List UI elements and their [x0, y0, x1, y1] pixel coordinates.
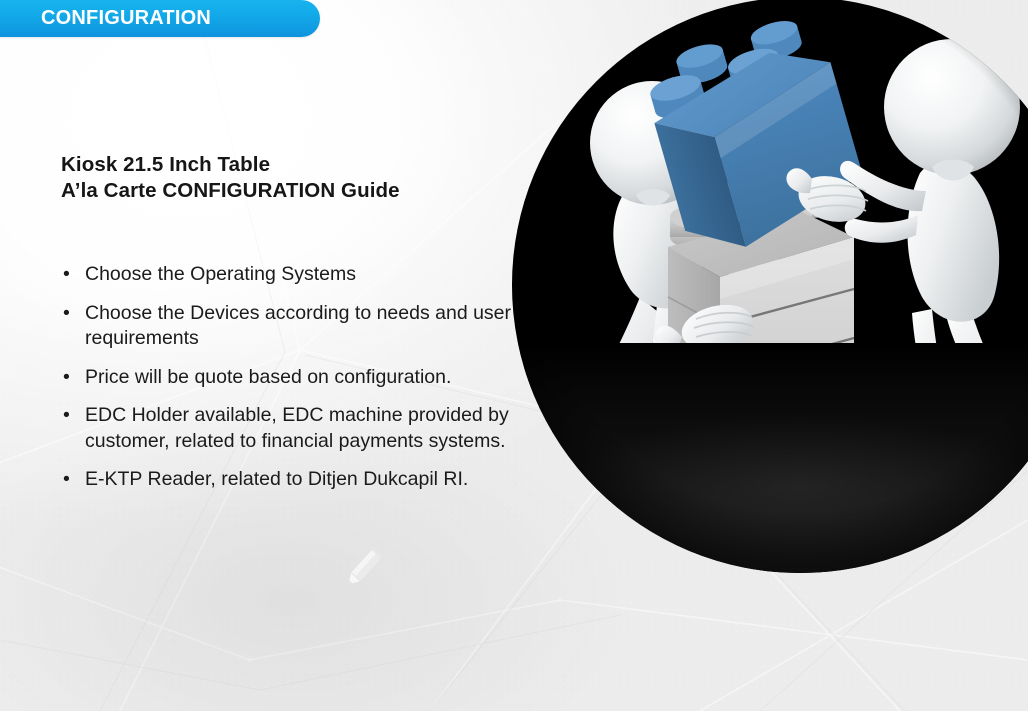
- list-item-text: Choose the Operating Systems: [85, 263, 356, 285]
- list-item-text: Choose the Devices according to needs an…: [85, 302, 511, 350]
- page-title-line-2: A’la Carte CONFIGURATION Guide: [61, 178, 400, 204]
- list-item-text: Price will be quote based on configurati…: [85, 366, 451, 388]
- list-item-text: EDC Holder available, EDC machine provid…: [85, 404, 509, 452]
- illustration-vignette: [512, 0, 1028, 573]
- list-item: • EDC Holder available, EDC machine prov…: [61, 403, 531, 454]
- list-item: • Price will be quote based on configura…: [61, 365, 531, 391]
- list-item: • Choose the Operating Systems: [61, 262, 531, 288]
- bullet-marker-icon: •: [63, 467, 70, 493]
- page-title-line-1: Kiosk 21.5 Inch Table: [61, 152, 400, 178]
- pencil-icon: [336, 543, 388, 595]
- section-header-label: CONFIGURATION: [41, 7, 211, 30]
- section-header-tab: CONFIGURATION: [0, 0, 320, 37]
- bullet-marker-icon: •: [63, 262, 70, 288]
- list-item: • E-KTP Reader, related to Ditjen Dukcap…: [61, 467, 531, 493]
- list-item: • Choose the Devices according to needs …: [61, 301, 531, 352]
- illustration-circle: [512, 0, 1028, 573]
- bullet-list: • Choose the Operating Systems • Choose …: [61, 262, 531, 506]
- bullet-marker-icon: •: [63, 403, 70, 429]
- bullet-marker-icon: •: [63, 365, 70, 391]
- page-title: Kiosk 21.5 Inch Table A’la Carte CONFIGU…: [61, 152, 400, 204]
- list-item-text: E-KTP Reader, related to Ditjen Dukcapil…: [85, 468, 468, 490]
- bullet-marker-icon: •: [63, 301, 70, 327]
- slide-canvas: CONFIGURATION Kiosk 21.5 Inch Table A’la…: [0, 0, 1028, 711]
